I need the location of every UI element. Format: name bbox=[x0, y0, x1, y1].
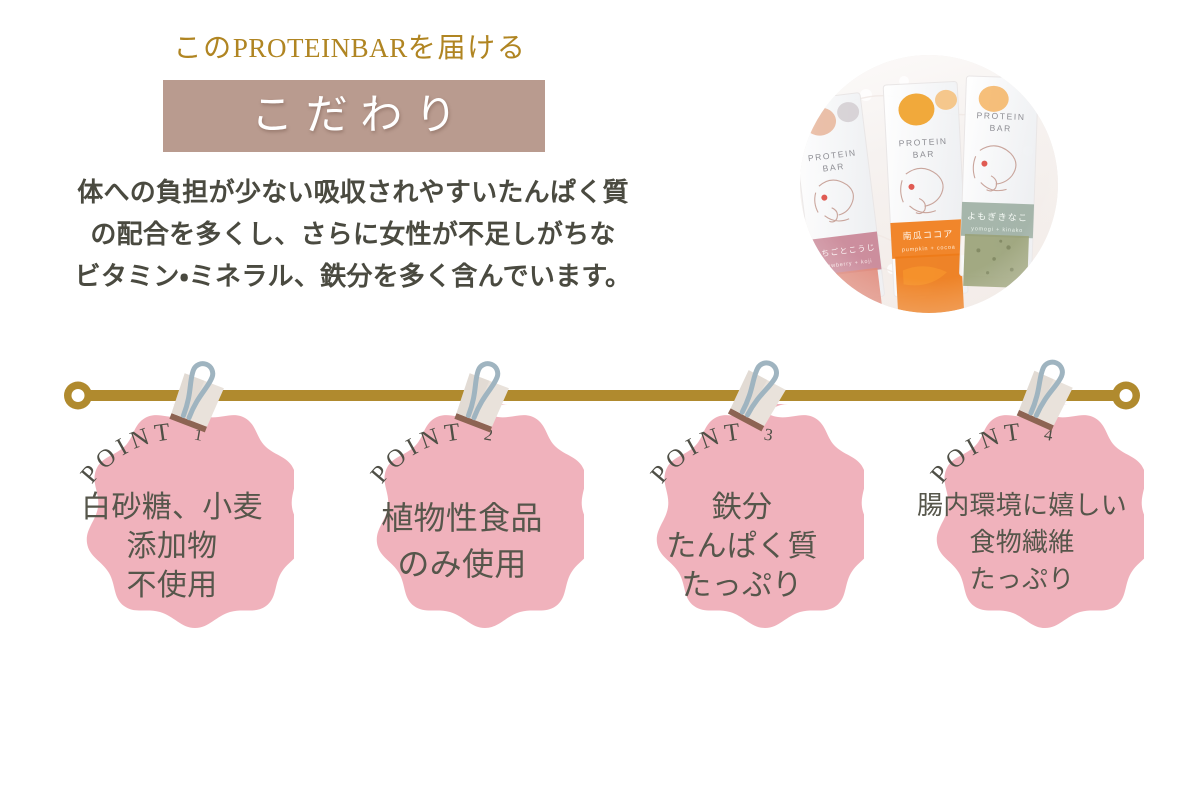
badge-2-line-1: 植物性食品 bbox=[340, 495, 584, 541]
badge-2-line-2: のみ使用 bbox=[340, 541, 584, 587]
binder-clip-2 bbox=[435, 355, 525, 447]
badge-1-line-2: 添加物 bbox=[50, 527, 294, 566]
binder-clip-1 bbox=[150, 355, 240, 447]
badge-3-line-1: 鉄分 bbox=[620, 488, 864, 527]
binder-clip-icon bbox=[710, 353, 800, 445]
badge-1-line-3: 不使用 bbox=[50, 566, 294, 605]
binder-clip-3 bbox=[710, 353, 800, 445]
binder-clip-4 bbox=[998, 353, 1088, 445]
badge-4-line-1: 腸内環境に嬉しい bbox=[900, 488, 1144, 525]
badge-4-line-3: たっぷり bbox=[900, 562, 1144, 599]
binder-clip-icon bbox=[150, 355, 240, 447]
point-badge-3-text: 鉄分 たんぱく質 たっぷり bbox=[620, 488, 864, 605]
points-row: POINT 1 白砂糖、小麦 添加物 不使用 POINT 2 植物性食品 のみ使… bbox=[0, 0, 1200, 800]
poster-canvas: このPROTEINBARを届ける こだわり 体への負担が少ない吸収されやすいたん… bbox=[0, 0, 1200, 800]
badge-3-line-3: たっぷり bbox=[620, 566, 864, 605]
badge-4-line-2: 食物繊維 bbox=[900, 525, 1144, 562]
point-badge-4-text: 腸内環境に嬉しい 食物繊維 たっぷり bbox=[900, 488, 1144, 599]
point-badge-2-text: 植物性食品 のみ使用 bbox=[340, 495, 584, 588]
binder-clip-icon bbox=[435, 355, 525, 447]
badge-1-line-1: 白砂糖、小麦 bbox=[50, 488, 294, 527]
point-badge-1-text: 白砂糖、小麦 添加物 不使用 bbox=[50, 488, 294, 605]
badge-3-line-2: たんぱく質 bbox=[620, 527, 864, 566]
binder-clip-icon bbox=[998, 353, 1088, 445]
